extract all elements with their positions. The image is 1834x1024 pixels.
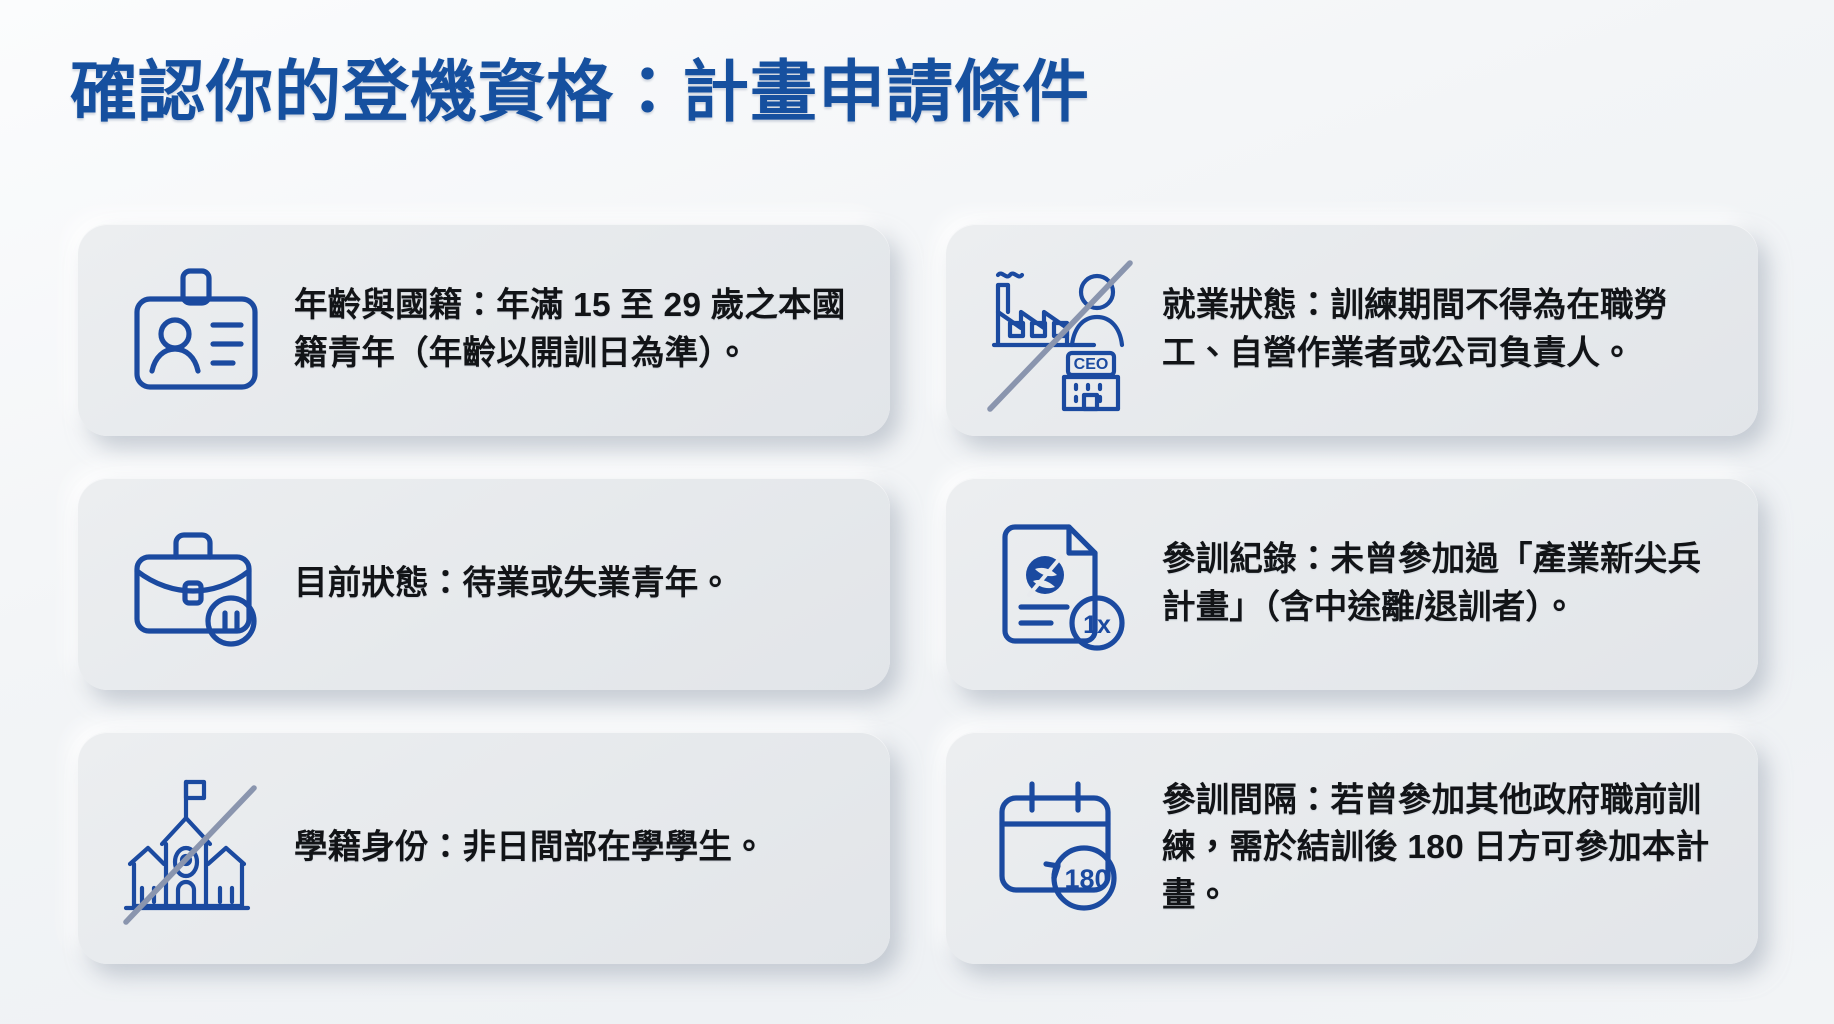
briefcase-paused-icon (112, 500, 280, 668)
id-card-icon (112, 246, 280, 414)
infographic-page: 確認你的登機資格：計畫申請條件 年齡與國籍：年滿 15 至 29 歲之本國籍青年… (0, 0, 1834, 1024)
svg-text:CEO: CEO (1074, 356, 1109, 373)
eligibility-card-text: 目前狀態：待業或失業青年。 (280, 560, 856, 608)
eligibility-card-training-interval: 180 參訓間隔：若曾參加其他政府職前訓練，需於結訓後 180 日方可參加本計畫… (946, 732, 1758, 964)
factory-worker-ceo-prohibited-icon: CEO (980, 246, 1148, 414)
eligibility-card-text: 學籍身份：非日間部在學學生。 (280, 824, 856, 872)
eligibility-card-grid: 年齡與國籍：年滿 15 至 29 歲之本國籍青年（年齡以開訓日為準）。 (78, 224, 1758, 964)
school-prohibited-icon (112, 764, 280, 932)
page-title: 確認你的登機資格：計畫申請條件 (70, 55, 1090, 130)
document-once-icon: 1x (980, 500, 1148, 668)
page-header: 確認你的登機資格：計畫申請條件 (70, 38, 1470, 148)
eligibility-card-text: 參訓紀錄：未曾參加過「產業新尖兵計畫」（含中途離/退訓者）。 (1148, 536, 1724, 631)
eligibility-card-training-record: 1x 參訓紀錄：未曾參加過「產業新尖兵計畫」（含中途離/退訓者）。 (946, 478, 1758, 690)
svg-text:180: 180 (1064, 864, 1109, 894)
eligibility-card-text: 就業狀態：訓練期間不得為在職勞工、自營作業者或公司負責人。 (1148, 282, 1724, 377)
eligibility-card-text: 參訓間隔：若曾參加其他政府職前訓練，需於結訓後 180 日方可參加本計畫。 (1148, 777, 1724, 920)
svg-text:1x: 1x (1083, 611, 1111, 639)
eligibility-card-current-status: 目前狀態：待業或失業青年。 (78, 478, 890, 690)
eligibility-card-employment-status: CEO 就業狀態：訓練期間不得為在職勞工、自營作業者或公司負責人。 (946, 224, 1758, 436)
eligibility-card-text: 年齡與國籍：年滿 15 至 29 歲之本國籍青年（年齡以開訓日為準）。 (280, 282, 856, 377)
calendar-180-days-icon: 180 (980, 764, 1148, 932)
eligibility-card-age-nationality: 年齡與國籍：年滿 15 至 29 歲之本國籍青年（年齡以開訓日為準）。 (78, 224, 890, 436)
eligibility-card-student-status: 學籍身份：非日間部在學學生。 (78, 732, 890, 964)
